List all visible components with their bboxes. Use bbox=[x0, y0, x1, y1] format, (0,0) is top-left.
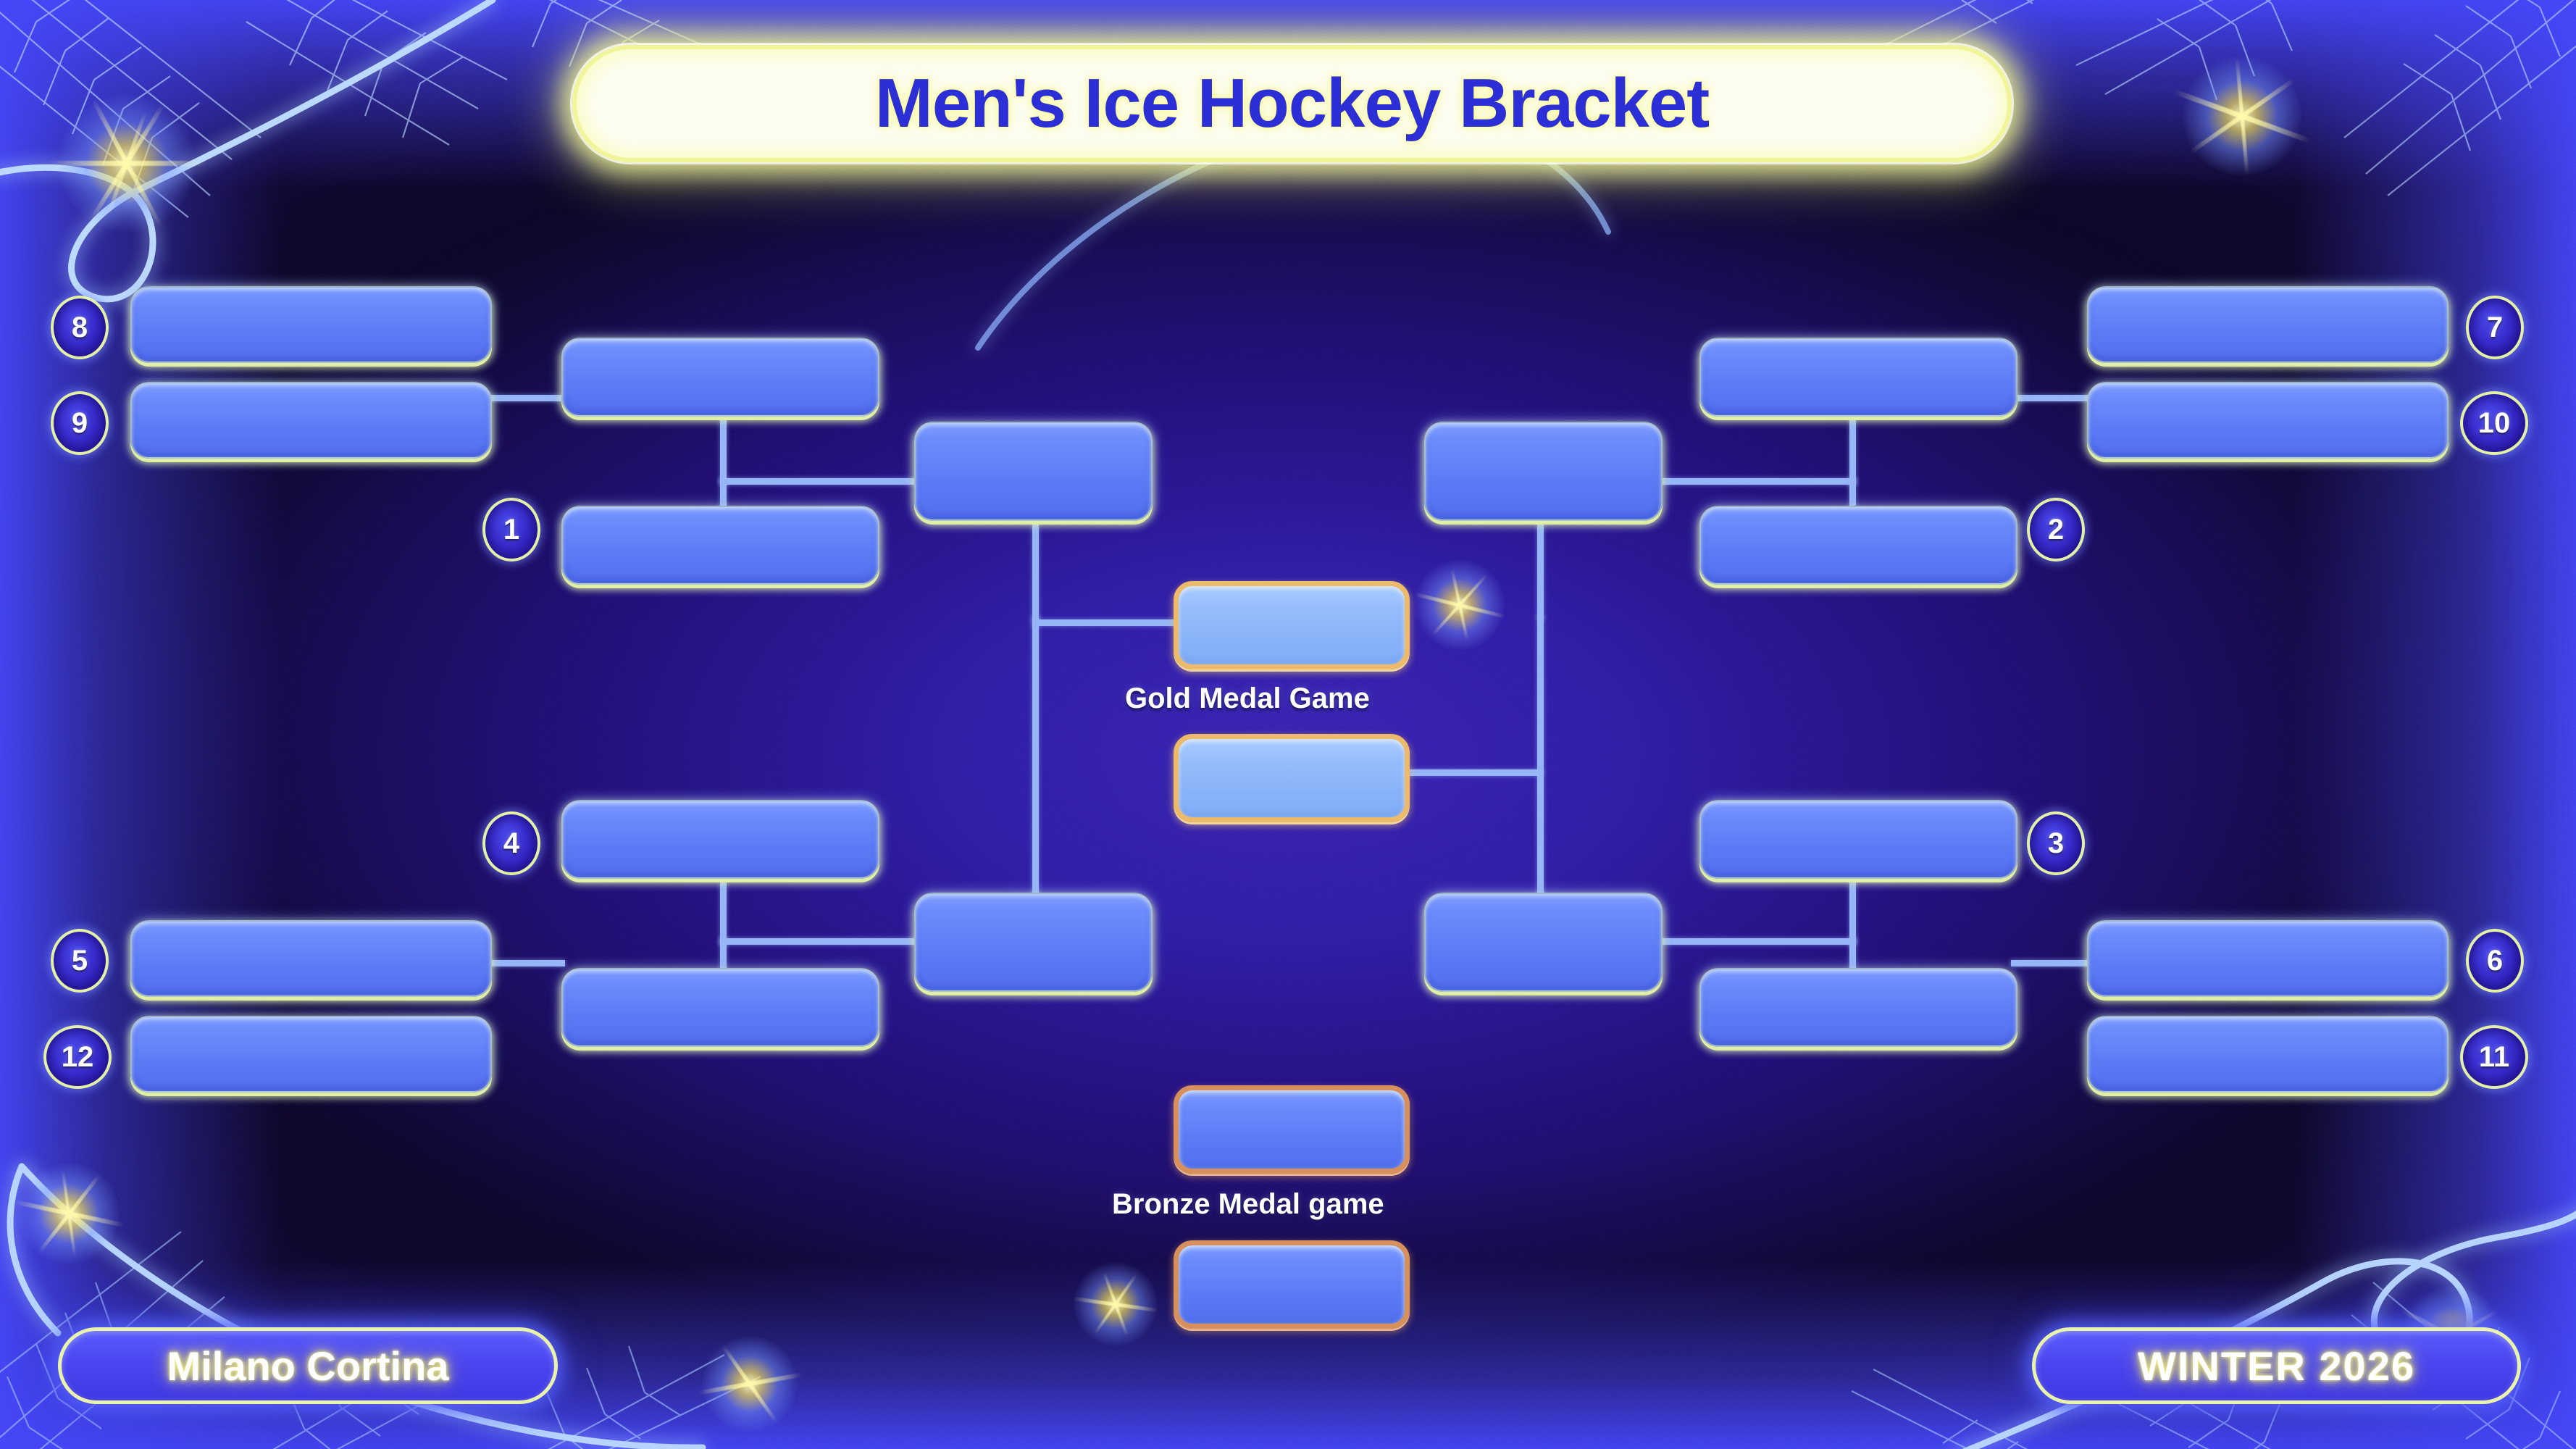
connector-right-r2-junction-top bbox=[1659, 478, 1856, 485]
seed-badge-1[interactable]: 1 bbox=[482, 498, 540, 561]
bracket-slot-left-r1-2[interactable] bbox=[130, 382, 492, 459]
seed-badge-10-label: 10 bbox=[2478, 409, 2511, 438]
bracket-slot-left-r2-3[interactable] bbox=[561, 800, 879, 879]
seed-badge-12[interactable]: 12 bbox=[43, 1025, 112, 1089]
seed-badge-9[interactable]: 9 bbox=[51, 391, 109, 455]
background-ice-texture bbox=[0, 0, 2576, 1449]
seed-badge-10[interactable]: 10 bbox=[2460, 391, 2528, 455]
bracket-slot-right-semi-1[interactable] bbox=[1424, 422, 1663, 521]
seed-badge-12-label: 12 bbox=[62, 1043, 94, 1072]
bracket-slot-left-r2-4[interactable] bbox=[561, 968, 879, 1047]
seed-badge-7[interactable]: 7 bbox=[2466, 296, 2524, 359]
connector-left-r2c-stem bbox=[720, 873, 727, 944]
connector-right-to-gold bbox=[1398, 769, 1543, 776]
seed-badge-2[interactable]: 2 bbox=[2027, 498, 2085, 561]
connector-left-r1-pair2 bbox=[487, 960, 565, 966]
bracket-slot-right-semi-2[interactable] bbox=[1424, 893, 1663, 992]
gold-medal-label: Gold Medal Game bbox=[1125, 682, 1370, 715]
bracket-slot-left-r2-2[interactable] bbox=[561, 506, 879, 585]
bracket-slot-left-semi-2[interactable] bbox=[914, 893, 1153, 992]
bracket-slot-right-r2-2[interactable] bbox=[1699, 506, 2017, 585]
page-title-pill: Men's Ice Hockey Bracket bbox=[572, 45, 2012, 162]
host-city-badge: Milano Cortina bbox=[58, 1327, 558, 1404]
connector-right-semi-top-stem bbox=[1537, 518, 1544, 619]
seed-badge-4-label: 4 bbox=[503, 829, 519, 858]
bronze-medal-label: Bronze Medal game bbox=[1112, 1188, 1384, 1221]
page-title: Men's Ice Hockey Bracket bbox=[875, 64, 1709, 143]
connector-left-semi-top-stem bbox=[1032, 518, 1039, 619]
bracket-slot-left-r1-3[interactable] bbox=[130, 920, 492, 997]
bracket-slot-left-semi-1[interactable] bbox=[914, 422, 1153, 521]
seed-badge-8-label: 8 bbox=[72, 313, 88, 342]
seed-badge-9-label: 9 bbox=[72, 409, 88, 438]
connector-right-semi-vertical bbox=[1537, 616, 1544, 898]
seed-badge-11[interactable]: 11 bbox=[2460, 1025, 2528, 1089]
seed-badge-5[interactable]: 5 bbox=[51, 929, 109, 993]
seed-badge-5-label: 5 bbox=[72, 946, 88, 975]
connector-right-r1-pair1 bbox=[2011, 395, 2089, 401]
connector-left-semi-vertical bbox=[1032, 616, 1039, 898]
connector-right-r2a-stem bbox=[1849, 413, 1856, 484]
gold-medal-slot-1[interactable] bbox=[1174, 581, 1410, 669]
seed-badge-4[interactable]: 4 bbox=[482, 811, 540, 875]
bracket-slot-right-r1-3[interactable] bbox=[2087, 920, 2449, 997]
connector-left-r2-junction-bottom bbox=[720, 938, 917, 945]
seed-badge-1-label: 1 bbox=[503, 515, 519, 544]
host-city-label: Milano Cortina bbox=[167, 1342, 449, 1390]
bracket-poster: Men's Ice Hockey Bracket bbox=[0, 0, 2576, 1449]
bracket-slot-right-r1-2[interactable] bbox=[2087, 382, 2449, 459]
connector-left-r2-junction-top bbox=[720, 478, 917, 485]
seed-badge-6[interactable]: 6 bbox=[2466, 929, 2524, 993]
connector-right-r2c-stem bbox=[1849, 873, 1856, 944]
bronze-medal-slot-2[interactable] bbox=[1174, 1240, 1410, 1329]
seed-badge-7-label: 7 bbox=[2487, 313, 2503, 342]
seed-badge-2-label: 2 bbox=[2048, 515, 2064, 544]
connector-left-r1-pair1 bbox=[487, 395, 565, 401]
bracket-slot-left-r2-1[interactable] bbox=[561, 338, 879, 417]
games-year-label: WINTER 2026 bbox=[2138, 1342, 2415, 1390]
bracket-slot-right-r1-1[interactable] bbox=[2087, 286, 2449, 363]
gold-medal-slot-2[interactable] bbox=[1174, 734, 1410, 822]
games-year-badge: WINTER 2026 bbox=[2032, 1327, 2521, 1404]
connector-right-r1-pair2 bbox=[2011, 960, 2089, 966]
seed-badge-11-label: 11 bbox=[2479, 1043, 2509, 1072]
bronze-medal-slot-1[interactable] bbox=[1174, 1085, 1410, 1174]
connector-left-to-gold bbox=[1032, 619, 1177, 626]
connector-left-r2a-stem bbox=[720, 413, 727, 484]
seed-badge-3-label: 3 bbox=[2048, 829, 2064, 858]
seed-badge-6-label: 6 bbox=[2487, 946, 2503, 975]
bracket-slot-left-r1-1[interactable] bbox=[130, 286, 492, 363]
bracket-slot-right-r1-4[interactable] bbox=[2087, 1016, 2449, 1093]
bracket-slot-left-r1-4[interactable] bbox=[130, 1016, 492, 1093]
seed-badge-8[interactable]: 8 bbox=[51, 296, 109, 359]
connector-right-r2-junction-bottom bbox=[1659, 938, 1856, 945]
bracket-slot-right-r2-3[interactable] bbox=[1699, 800, 2017, 879]
bracket-slot-right-r2-4[interactable] bbox=[1699, 968, 2017, 1047]
bracket-slot-right-r2-1[interactable] bbox=[1699, 338, 2017, 417]
seed-badge-3[interactable]: 3 bbox=[2027, 811, 2085, 875]
